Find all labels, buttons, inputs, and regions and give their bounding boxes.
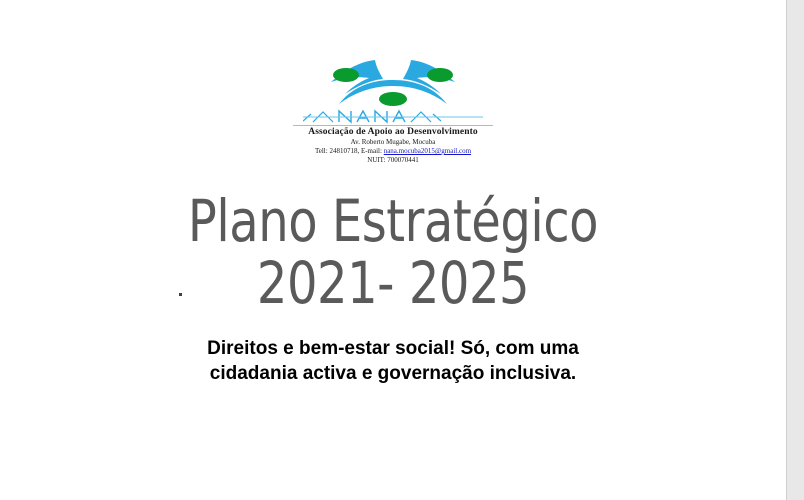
window-scrollbar-track[interactable] (786, 0, 804, 500)
nana-people-logo-icon (313, 52, 473, 110)
stray-period-glyph (179, 293, 182, 296)
nana-wordmark-icon (303, 108, 483, 124)
logo-divider-rule (293, 125, 493, 126)
logo-nuit: NUIT: 700070441 (0, 156, 786, 165)
slide-canvas: Associação de Apoio ao Desenvolvimento A… (0, 0, 786, 500)
slide-title-block: Plano Estratégico 2021- 2025 (0, 190, 786, 314)
logo-organization-name: Associação de Apoio ao Desenvolvimento (0, 127, 786, 138)
slide-subtitle-line-2: cidadania activa e governação inclusiva. (0, 361, 786, 386)
slide-subtitle-line-1: Direitos e bem-estar social! Só, com uma (0, 336, 786, 361)
slide-title-line-1: Plano Estratégico (31, 190, 754, 252)
slide-subtitle-block: Direitos e bem-estar social! Só, com uma… (0, 336, 786, 386)
logo-email-link[interactable]: nana.mocuba2015@gmail.com (384, 147, 471, 155)
logo-contact-line: Tell: 24810718, E-mail: nana.mocuba2015@… (0, 147, 786, 156)
presentation-slide: Associação de Apoio ao Desenvolvimento A… (0, 0, 804, 500)
slide-title-line-2: 2021- 2025 (31, 252, 754, 314)
organization-logo-block: Associação de Apoio ao Desenvolvimento A… (0, 52, 786, 165)
logo-phone-and-email-prefix: Tell: 24810718, E-mail: (315, 147, 384, 155)
logo-address: Av. Roberto Mugabe, Mocuba (0, 138, 786, 147)
